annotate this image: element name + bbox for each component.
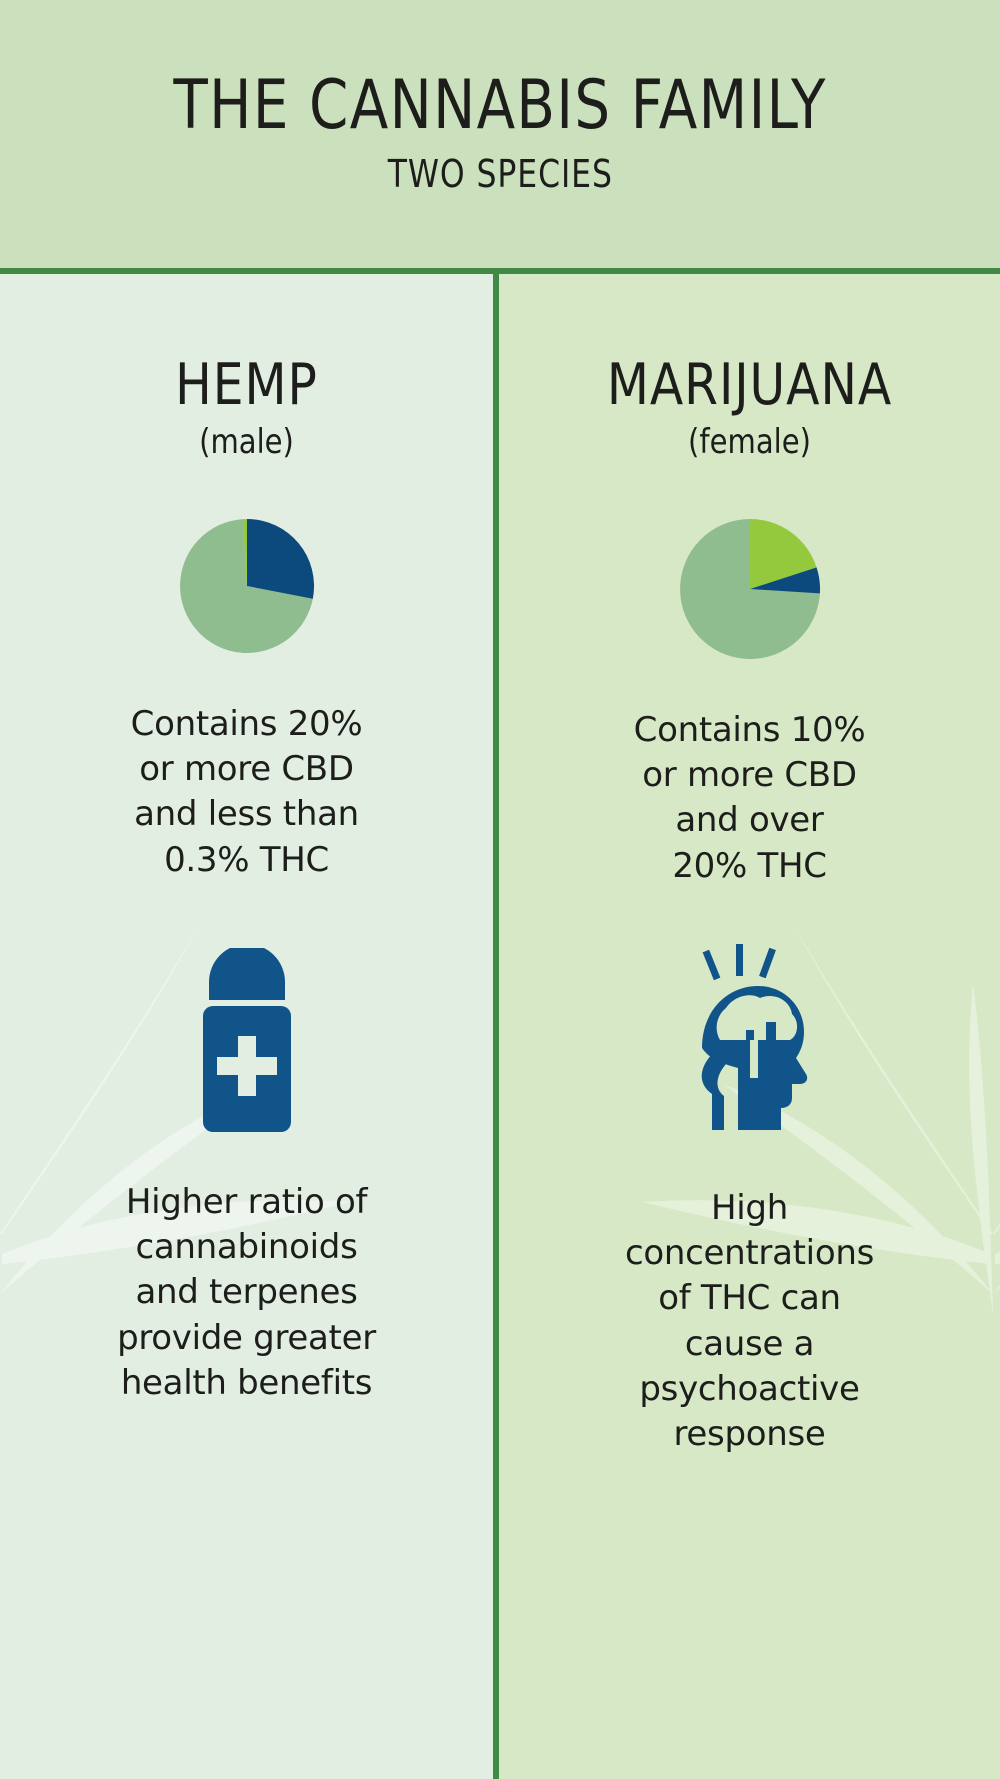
- species-name-marijuana: MARIJUANA: [512, 352, 988, 418]
- marijuana-content: MARIJUANA (female) Contains 10% or more …: [499, 274, 1000, 1457]
- column-marijuana: MARIJUANA (female) Contains 10% or more …: [499, 274, 1000, 1779]
- benefit-line: High: [499, 1186, 1000, 1231]
- comparison-columns: HEMP (male) Contains 20% or more CBD: [0, 274, 1000, 1779]
- pie-slice-thc: [247, 519, 314, 599]
- stat-line: and less than: [0, 792, 493, 837]
- benefit-text-hemp: Higher ratio of cannabinoids and terpene…: [0, 1180, 493, 1406]
- stat-line: or more CBD: [499, 753, 1000, 798]
- stat-line: Contains 20%: [0, 702, 493, 747]
- column-hemp: HEMP (male) Contains 20% or more CBD: [0, 274, 493, 1779]
- stat-text-marijuana: Contains 10% or more CBD and over 20% TH…: [499, 708, 1000, 889]
- pie-chart-marijuana: [677, 516, 823, 662]
- icon-wrap-marijuana: [499, 949, 1000, 1144]
- benefit-line: psychoactive: [499, 1367, 1000, 1412]
- hemp-content: HEMP (male) Contains 20% or more CBD: [0, 274, 493, 1406]
- species-name-hemp: HEMP: [12, 352, 480, 418]
- benefit-line: of THC can: [499, 1276, 1000, 1321]
- stat-line: and over: [499, 798, 1000, 843]
- medicine-bottle-icon: [181, 948, 313, 1138]
- benefit-line: response: [499, 1412, 1000, 1457]
- benefit-line: health benefits: [0, 1361, 493, 1406]
- stat-line: or more CBD: [0, 747, 493, 792]
- infographic-root: THE CANNABIS FAMILY TWO SPECIES HEMP (: [0, 0, 1000, 1779]
- page-subtitle: TWO SPECIES: [387, 152, 612, 196]
- benefit-text-marijuana: High concentrations of THC can cause a p…: [499, 1186, 1000, 1457]
- benefit-line: cannabinoids: [0, 1225, 493, 1270]
- benefit-line: and terpenes: [0, 1270, 493, 1315]
- species-sex-marijuana: (female): [512, 422, 988, 462]
- benefit-line: concentrations: [499, 1231, 1000, 1276]
- pie-chart-hemp-wrap: [0, 516, 493, 656]
- pie-chart-hemp: [177, 516, 317, 656]
- head-brain-icon: [680, 944, 820, 1144]
- stat-text-hemp: Contains 20% or more CBD and less than 0…: [0, 702, 493, 883]
- pie-chart-marijuana-wrap: [499, 516, 1000, 662]
- icon-wrap-hemp: [0, 943, 493, 1138]
- stat-line: 0.3% THC: [0, 838, 493, 883]
- species-sex-hemp: (male): [12, 422, 480, 462]
- stat-line: 20% THC: [499, 844, 1000, 889]
- benefit-line: cause a: [499, 1322, 1000, 1367]
- benefit-line: Higher ratio of: [0, 1180, 493, 1225]
- header-banner: THE CANNABIS FAMILY TWO SPECIES: [0, 0, 1000, 268]
- page-title: THE CANNABIS FAMILY: [173, 72, 826, 140]
- benefit-line: provide greater: [0, 1316, 493, 1361]
- stat-line: Contains 10%: [499, 708, 1000, 753]
